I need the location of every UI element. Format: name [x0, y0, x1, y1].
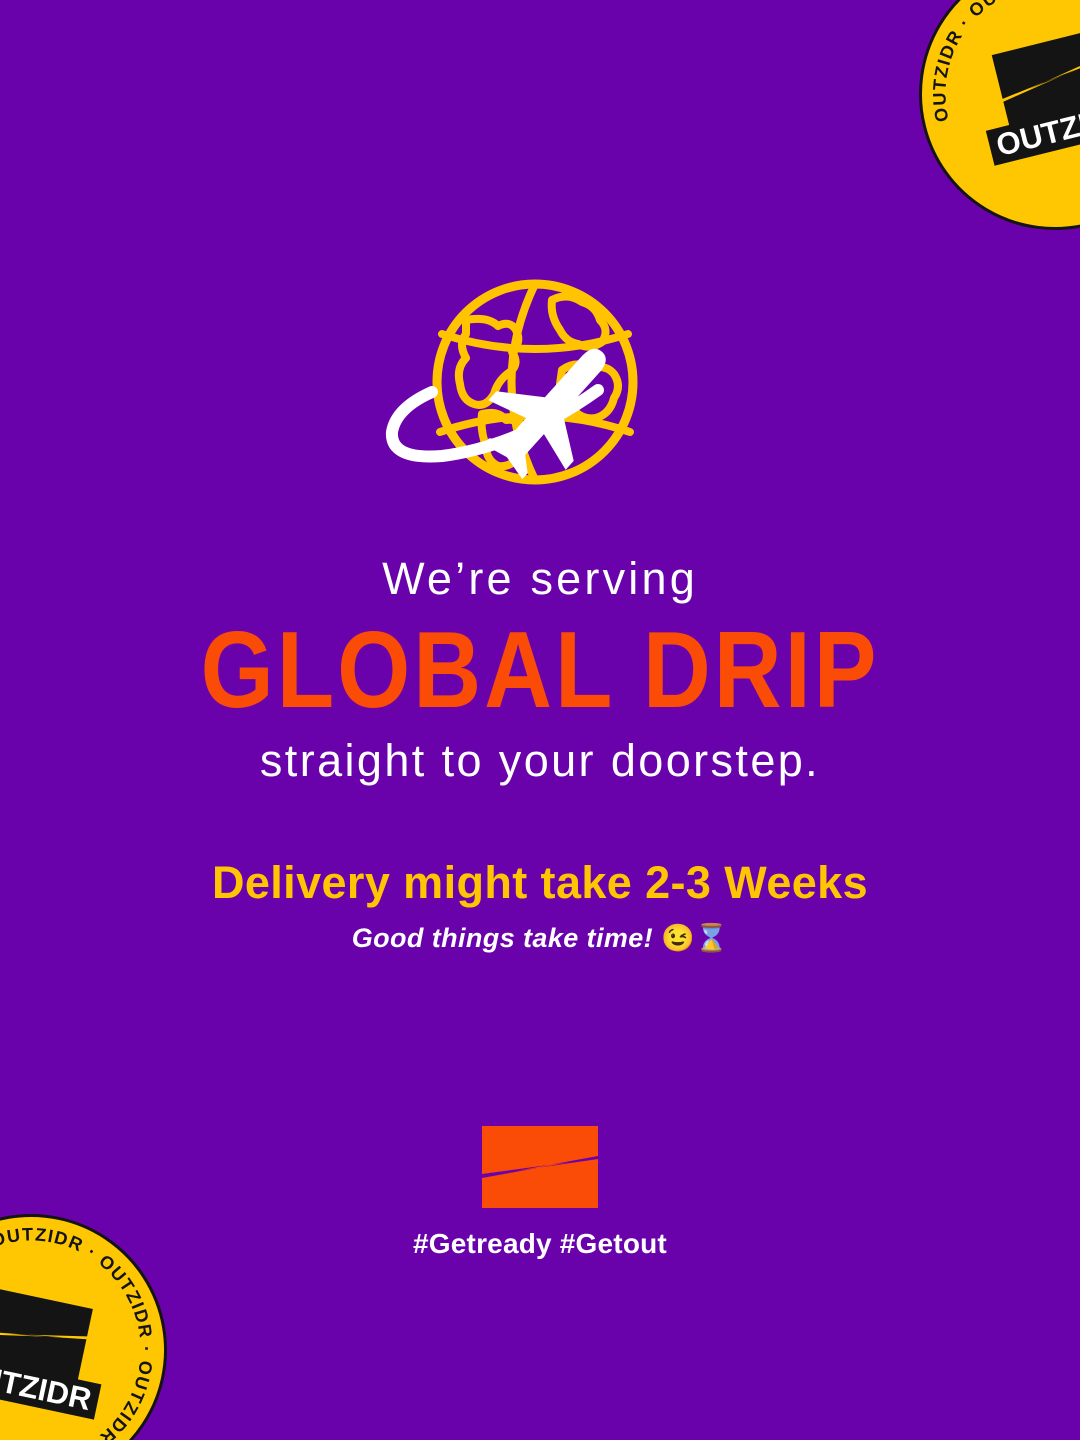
- headline-bottom: straight to your doorstep.: [0, 734, 1080, 787]
- delivery-subtext: Good things take time! 😉⌛: [0, 922, 1080, 954]
- outzidr-badge-top-right: OUTZIDR · OUTZIDR · OUTZIDR · OUTZIDR · …: [890, 0, 1080, 259]
- poster-canvas: OUTZIDR · OUTZIDR · OUTZIDR · OUTZIDR · …: [0, 0, 1080, 1440]
- headline-top: We’re serving: [0, 552, 1080, 605]
- hero-icon-wrap: [0, 272, 1080, 502]
- delivery-subtext-label: Good things take time!: [352, 923, 653, 953]
- wink-hourglass-emoji: 😉⌛: [661, 923, 728, 953]
- footer-hashtags: #Getready #Getout: [413, 1228, 667, 1260]
- copy-block: We’re serving GLOBAL DRIP straight to yo…: [0, 552, 1080, 954]
- globe-with-airplane-icon: [370, 272, 710, 502]
- delivery-estimate: Delivery might take 2-3 Weeks: [0, 857, 1080, 909]
- headline-main: GLOBAL DRIP: [0, 612, 1080, 728]
- footer-block: #Getready #Getout: [0, 1124, 1080, 1260]
- outzidr-z-logo: [478, 1124, 602, 1210]
